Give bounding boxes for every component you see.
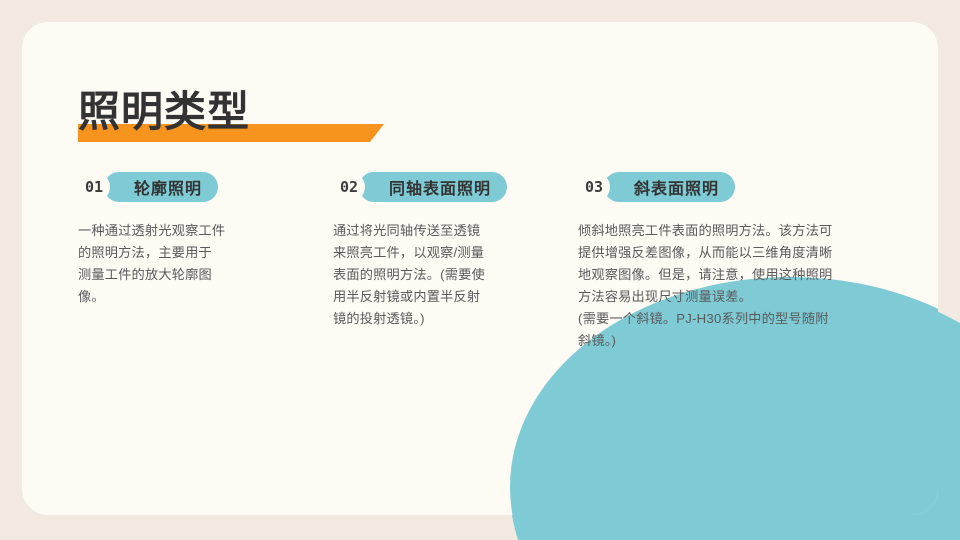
column-body-2: 通过将光同轴传送至透镜 来照亮工件，以观察/测量 表面的照明方法。(需要使 用半… bbox=[333, 220, 548, 330]
column-number-badge-3: 03 bbox=[578, 172, 610, 202]
column-number-badge-1: 01 bbox=[78, 172, 110, 202]
column-header-2: 同轴表面照明 02 bbox=[333, 172, 548, 204]
column-number-1: 01 bbox=[85, 178, 103, 196]
column-header-3: 斜表面照明 03 bbox=[578, 172, 868, 204]
column-item-3: 斜表面照明 03 倾斜地照亮工件表面的照明方法。该方法可 提供增强反差图像，从而… bbox=[578, 172, 868, 352]
column-item-1: 轮廓照明 01 一种通过透射光观察工件 的照明方法，主要用于 测量工件的放大轮廓… bbox=[78, 172, 293, 308]
column-item-2: 同轴表面照明 02 通过将光同轴传送至透镜 来照亮工件，以观察/测量 表面的照明… bbox=[333, 172, 548, 330]
column-label-2: 同轴表面照明 bbox=[389, 175, 491, 199]
column-body-3: 倾斜地照亮工件表面的照明方法。该方法可 提供增强反差图像，从而能以三维角度清晰 … bbox=[578, 220, 868, 352]
column-number-badge-2: 02 bbox=[333, 172, 365, 202]
column-number-3: 03 bbox=[585, 178, 603, 196]
column-label-pill-3[interactable]: 斜表面照明 bbox=[604, 172, 735, 202]
column-number-2: 02 bbox=[340, 178, 358, 196]
column-label-pill-2[interactable]: 同轴表面照明 bbox=[359, 172, 507, 202]
column-label-3: 斜表面照明 bbox=[634, 175, 719, 199]
column-label-1: 轮廓照明 bbox=[134, 175, 202, 199]
content-card: 照明类型 轮廓照明 01 一种通过透射光观察工件 的照明方法，主要用于 测量工件… bbox=[22, 22, 938, 515]
column-header-1: 轮廓照明 01 bbox=[78, 172, 293, 204]
column-list: 轮廓照明 01 一种通过透射光观察工件 的照明方法，主要用于 测量工件的放大轮廓… bbox=[22, 22, 938, 515]
slide-root: 照明类型 轮廓照明 01 一种通过透射光观察工件 的照明方法，主要用于 测量工件… bbox=[0, 0, 960, 540]
column-label-pill-1[interactable]: 轮廓照明 bbox=[104, 172, 218, 202]
column-body-1: 一种通过透射光观察工件 的照明方法，主要用于 测量工件的放大轮廓图 像。 bbox=[78, 220, 293, 308]
